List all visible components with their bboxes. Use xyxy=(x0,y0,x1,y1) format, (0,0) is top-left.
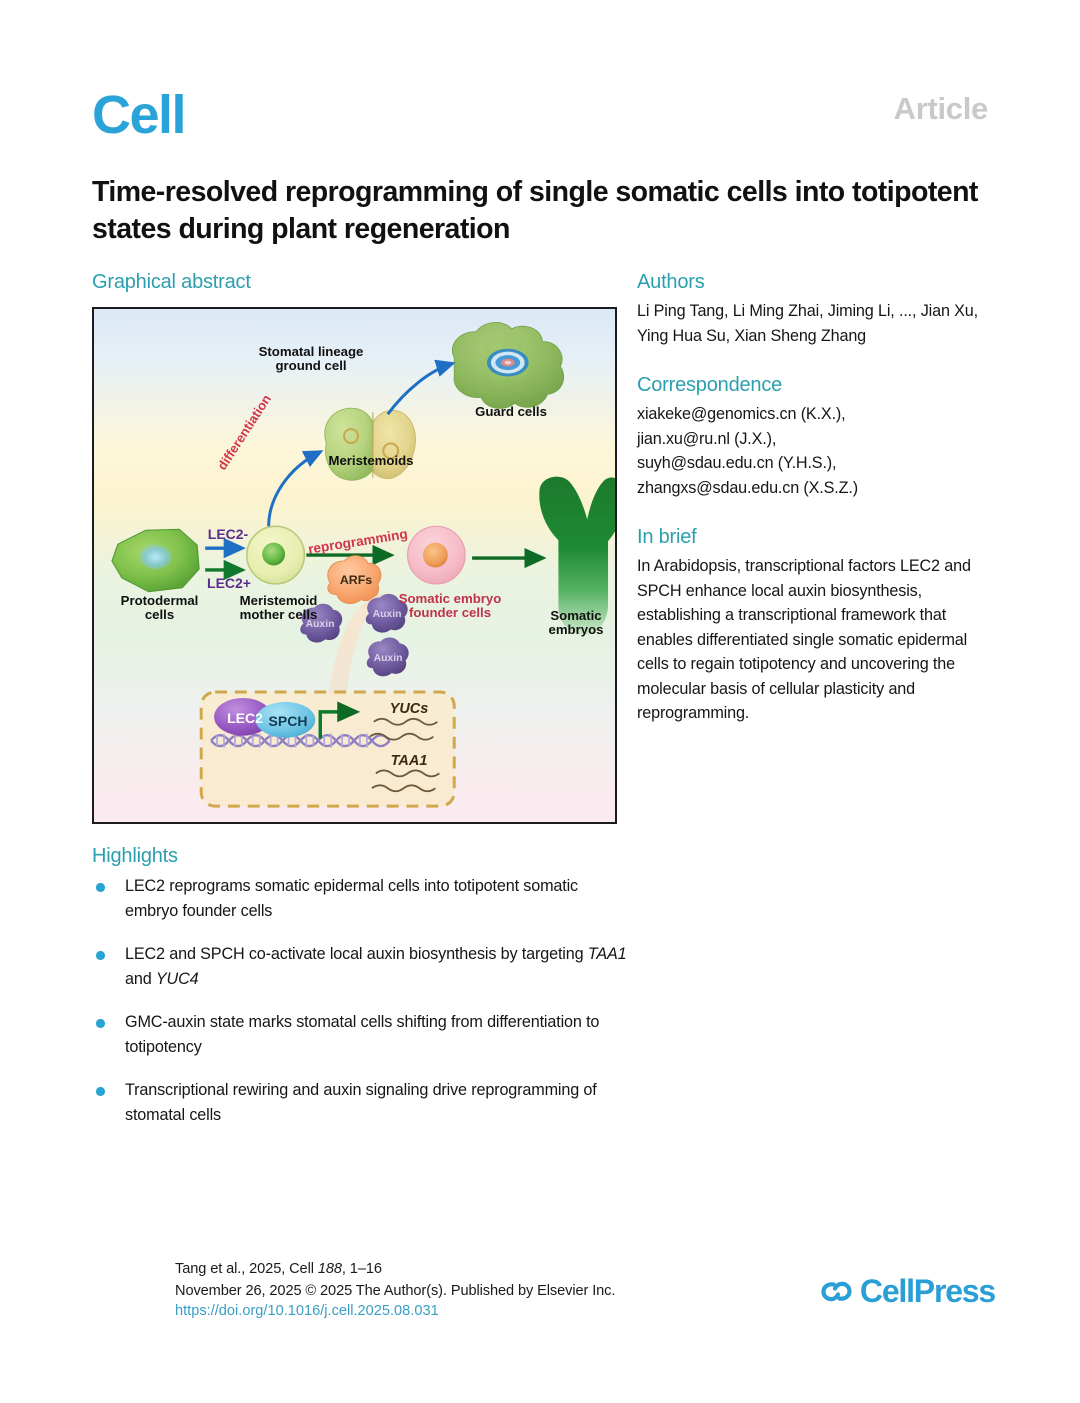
figure-label-lec2-minus: LEC2- xyxy=(201,527,255,542)
figure-label-auxin-1: Auxin xyxy=(295,619,345,630)
citation-volume: 188 xyxy=(318,1261,342,1277)
figure-label-guard-cells: Guard cells xyxy=(456,405,566,419)
figure-label-spch-protein: SPCH xyxy=(261,714,315,729)
highlight-item: LEC2 and SPCH co-activate local auxin bi… xyxy=(92,942,632,991)
correspondence-email[interactable]: zhangxs@sdau.edu.cn (X.S.Z.) xyxy=(637,476,989,501)
page-header: Cell Article Time-resolved reprogramming… xyxy=(92,86,988,256)
graphical-abstract-heading: Graphical abstract xyxy=(92,271,251,294)
highlight-item: LEC2 reprograms somatic epidermal cells … xyxy=(92,874,632,923)
protodermal-cell-graphic xyxy=(112,529,199,592)
bullet-icon xyxy=(96,1019,105,1028)
figure-label-meristemoids: Meristemoids xyxy=(316,454,426,468)
page-title: Time-resolved reprogramming of single so… xyxy=(92,174,988,248)
highlights-list: LEC2 reprograms somatic epidermal cells … xyxy=(92,874,632,1146)
highlight-text-mid: and xyxy=(125,970,156,988)
highlight-text: GMC-auxin state marks stomatal cells shi… xyxy=(125,1013,599,1056)
citation-pages: , 1–16 xyxy=(342,1261,382,1277)
article-type-label: Article xyxy=(894,91,988,127)
highlight-item: GMC-auxin state marks stomatal cells shi… xyxy=(92,1010,632,1059)
highlight-text: Transcriptional rewiring and auxin signa… xyxy=(125,1081,597,1124)
bullet-icon xyxy=(96,883,105,892)
authors-block: Authors Li Ping Tang, Li Ming Zhai, Jimi… xyxy=(637,271,989,348)
figure-label-yucs: YUCs xyxy=(377,702,441,718)
figure-label-protodermal-cells: Protodermal cells xyxy=(102,594,217,623)
page: Cell Article Time-resolved reprogramming… xyxy=(0,0,1080,1403)
correspondence-email[interactable]: xiakeke@genomics.cn (K.X.), xyxy=(637,402,989,427)
figure-label-auxin-2: Auxin xyxy=(362,609,412,620)
highlights-heading: Highlights xyxy=(92,845,178,868)
page-footer: Tang et al., 2025, Cell 188, 1–16 Novemb… xyxy=(175,1259,995,1339)
correspondence-block: Correspondence xiakeke@genomics.cn (K.X.… xyxy=(637,374,989,500)
authors-list: Li Ping Tang, Li Ming Zhai, Jiming Li, .… xyxy=(637,299,989,348)
graphical-abstract-figure: Stomatal lineage ground cell Guard cells… xyxy=(92,307,617,824)
guard-cells-graphic xyxy=(452,322,563,408)
correspondence-email[interactable]: suyh@sdau.edu.cn (Y.H.S.), xyxy=(637,451,989,476)
figure-svg xyxy=(94,309,615,822)
highlight-item: Transcriptional rewiring and auxin signa… xyxy=(92,1078,632,1127)
cellpress-mark-icon xyxy=(820,1276,854,1308)
meristemoids-graphic xyxy=(325,408,416,480)
highlight-gene-name: TAA1 xyxy=(588,945,627,963)
cell-journal-logo: Cell xyxy=(92,86,185,144)
figure-label-taa1: TAA1 xyxy=(377,754,441,770)
bullet-icon xyxy=(96,1087,105,1096)
correspondence-emails: xiakeke@genomics.cn (K.X.), jian.xu@ru.n… xyxy=(637,402,989,500)
cellpress-logo: CellPress xyxy=(820,1273,995,1310)
highlight-text: LEC2 reprograms somatic epidermal cells … xyxy=(125,877,578,920)
cellpress-wordmark: CellPress xyxy=(860,1273,995,1310)
right-column: Authors Li Ping Tang, Li Ming Zhai, Jimi… xyxy=(637,271,989,752)
highlight-text: LEC2 and SPCH co-activate local auxin bi… xyxy=(125,945,588,963)
in-brief-block: In brief In Arabidopsis, transcriptional… xyxy=(637,526,989,726)
figure-label-stomatal-lineage-ground-cell: Stomatal lineage ground cell xyxy=(246,345,376,374)
bullet-icon xyxy=(96,951,105,960)
correspondence-email[interactable]: jian.xu@ru.nl (J.X.), xyxy=(637,427,989,452)
in-brief-heading: In brief xyxy=(637,526,989,549)
authors-heading: Authors xyxy=(637,271,989,294)
citation-prefix: Tang et al., 2025, Cell xyxy=(175,1261,318,1277)
in-brief-text: In Arabidopsis, transcriptional factors … xyxy=(637,554,989,726)
correspondence-heading: Correspondence xyxy=(637,374,989,397)
doi-link[interactable]: https://doi.org/10.1016/j.cell.2025.08.0… xyxy=(175,1303,439,1319)
figure-label-arfs: ARFs xyxy=(323,574,389,587)
figure-label-somatic-embryos: Somatic embryos xyxy=(531,609,617,638)
figure-label-auxin-3: Auxin xyxy=(363,653,413,664)
highlight-gene-name: YUC4 xyxy=(156,970,199,988)
figure-label-lec2-plus: LEC2+ xyxy=(201,576,257,591)
